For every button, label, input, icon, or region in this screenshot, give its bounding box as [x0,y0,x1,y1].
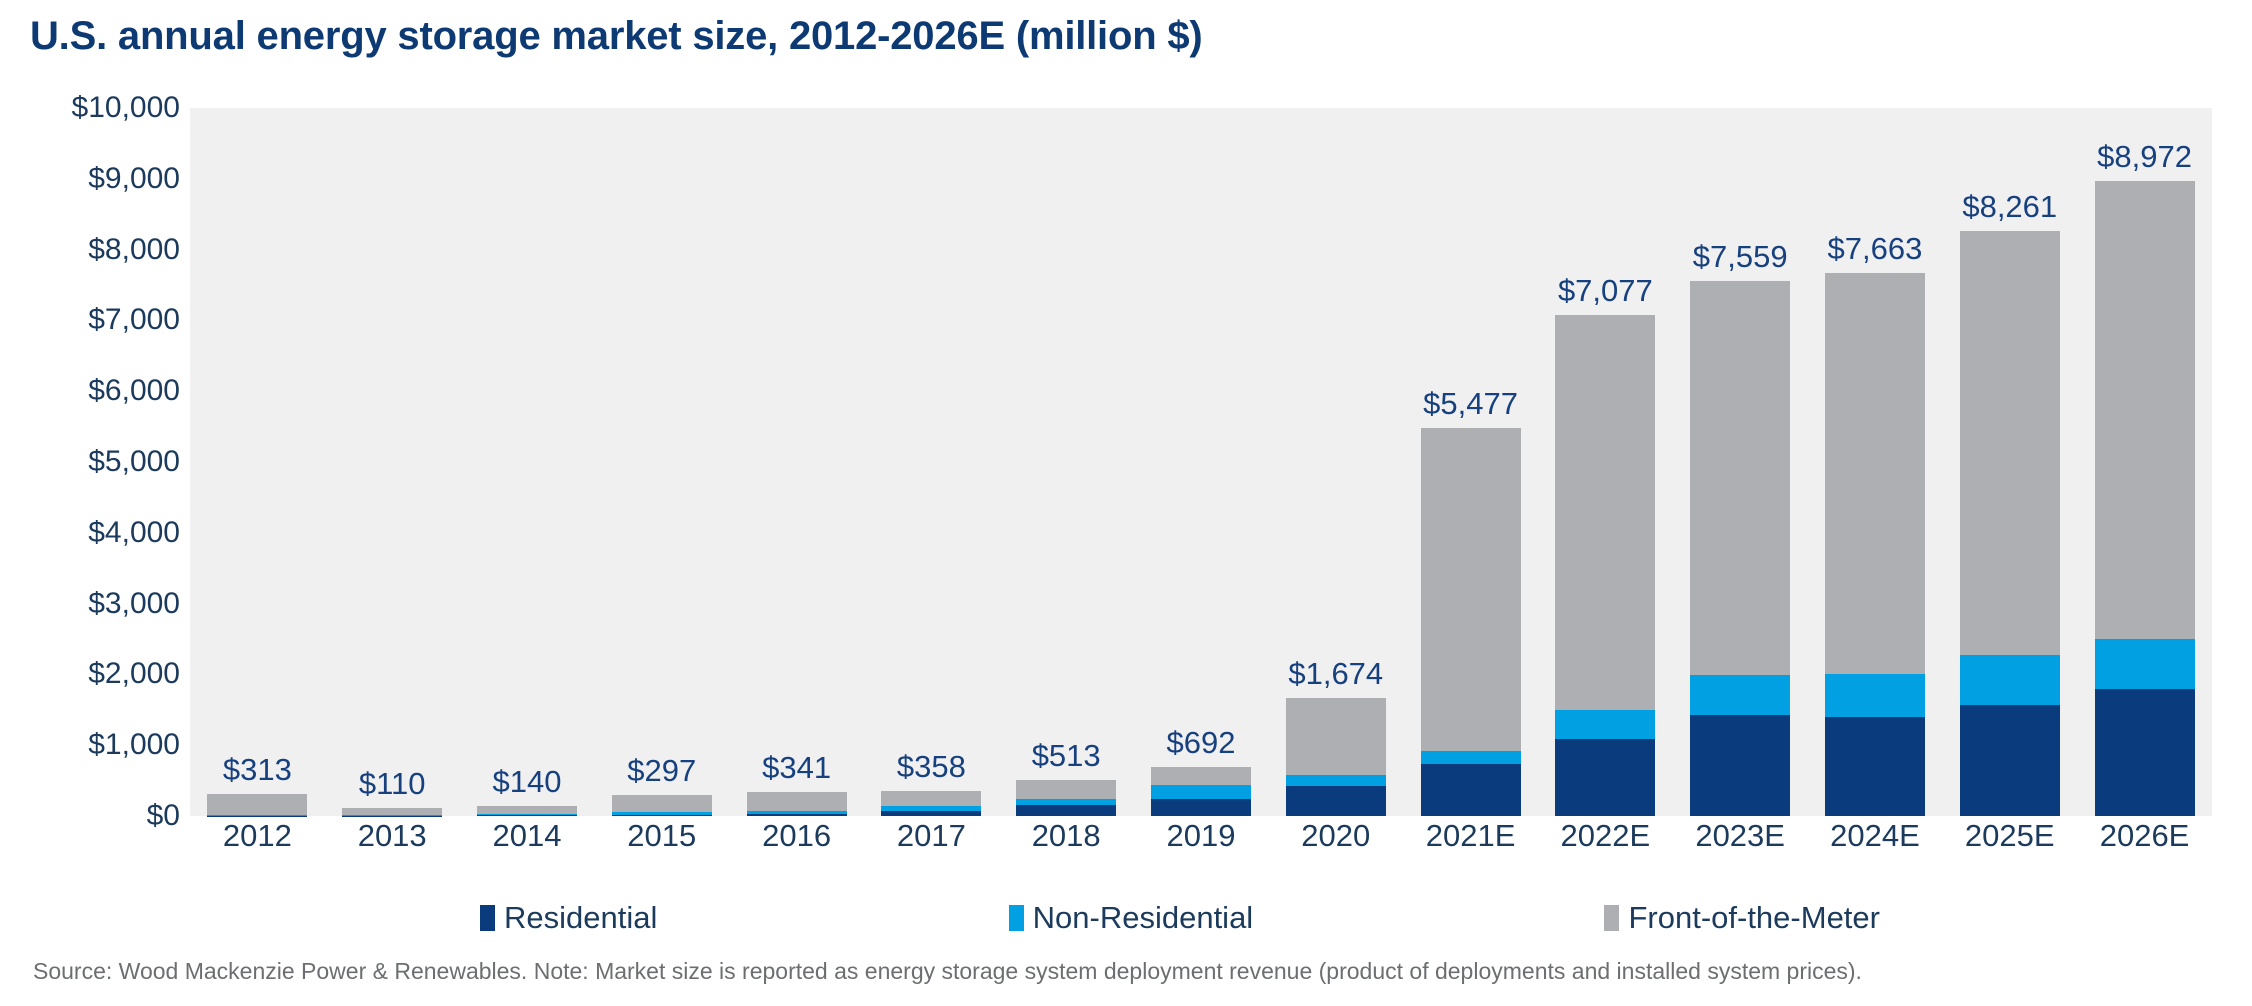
bar-segment-residential[interactable] [477,815,577,816]
x-axis-tick: 2018 [999,818,1133,854]
bar-segment-front-of-the-meter[interactable] [1690,281,1790,675]
bar-group[interactable]: $1,674 [1269,108,1403,816]
x-axis-tick: 2014 [460,818,594,854]
square-swatch-front-of-the-meter [1604,905,1619,931]
bar-total-label: $313 [223,752,292,788]
bar-total-label: $341 [762,750,831,786]
bar-segment-residential[interactable] [612,815,712,816]
bar-stack[interactable]: $5,477 [1421,428,1521,816]
x-axis-tick: 2015 [595,818,729,854]
bars-layer: $313$110$140$297$341$358$513$692$1,674$5… [190,108,2212,816]
bar-total-label: $7,559 [1693,239,1788,275]
bar-total-label: $140 [493,764,562,800]
x-axis-tick: 2020 [1269,818,1403,854]
x-axis-tick: 2017 [864,818,998,854]
bar-stack[interactable]: $7,077 [1555,315,1655,816]
bar-segment-residential[interactable] [1286,786,1386,816]
bar-segment-non-residential[interactable] [2095,639,2195,689]
y-axis-tick: $5,000 [88,445,180,479]
y-axis-tick: $6,000 [88,374,180,408]
bar-group[interactable]: $110 [325,108,459,816]
bar-stack[interactable]: $513 [1016,780,1116,816]
bar-group[interactable]: $7,559 [1673,108,1807,816]
bar-stack[interactable]: $341 [747,792,847,816]
bar-total-label: $8,972 [2097,139,2192,175]
bar-segment-non-residential[interactable] [1960,655,2060,705]
chart-legend: ResidentialNon-ResidentialFront-of-the-M… [190,896,2020,940]
bar-segment-residential[interactable] [2095,689,2195,816]
bar-segment-front-of-the-meter[interactable] [477,806,577,814]
bar-segment-front-of-the-meter[interactable] [1286,698,1386,775]
bar-total-label: $8,261 [1962,189,2057,225]
bar-stack[interactable]: $7,559 [1690,281,1790,816]
bar-group[interactable]: $8,972 [2078,108,2212,816]
bar-segment-residential[interactable] [1151,799,1251,816]
bar-total-label: $1,674 [1288,656,1383,692]
bar-segment-front-of-the-meter[interactable] [207,794,307,815]
y-axis-tick: $7,000 [88,303,180,337]
bar-segment-residential[interactable] [1825,717,1925,816]
y-axis-tick: $1,000 [88,728,180,762]
bar-group[interactable]: $358 [864,108,998,816]
x-axis-tick: 2013 [325,818,459,854]
bar-segment-non-residential[interactable] [1286,775,1386,786]
x-axis-tick: 2021E [1404,818,1538,854]
bar-group[interactable]: $8,261 [1943,108,2077,816]
y-axis-tick: $4,000 [88,516,180,550]
bar-total-label: $358 [897,749,966,785]
bar-stack[interactable]: $313 [207,794,307,816]
bar-stack[interactable]: $692 [1151,767,1251,816]
bar-segment-front-of-the-meter[interactable] [612,795,712,812]
bar-stack[interactable]: $358 [881,791,981,816]
y-axis-tick: $8,000 [88,233,180,267]
bar-segment-front-of-the-meter[interactable] [342,808,442,815]
bar-group[interactable]: $7,077 [1538,108,1672,816]
bar-total-label: $513 [1032,738,1101,774]
bar-group[interactable]: $341 [730,108,864,816]
bar-stack[interactable]: $110 [342,808,442,816]
bar-segment-front-of-the-meter[interactable] [1421,428,1521,751]
y-axis-tick: $0 [147,799,180,833]
bar-segment-front-of-the-meter[interactable] [1825,273,1925,674]
bar-group[interactable]: $513 [999,108,1133,816]
bar-stack[interactable]: $140 [477,806,577,816]
bar-segment-residential[interactable] [1690,715,1790,816]
bar-segment-non-residential[interactable] [1421,751,1521,764]
x-axis-tick: 2025E [1943,818,2077,854]
bar-stack[interactable]: $8,972 [2095,181,2195,816]
legend-item[interactable]: Residential [480,900,657,936]
bar-segment-residential[interactable] [747,814,847,816]
chart-figure: U.S. annual energy storage market size, … [0,0,2252,1006]
bar-segment-residential[interactable] [1421,764,1521,816]
legend-item[interactable]: Front-of-the-Meter [1604,900,1880,936]
bar-segment-non-residential[interactable] [1690,675,1790,715]
legend-label: Front-of-the-Meter [1628,900,1880,936]
bar-stack[interactable]: $8,261 [1960,231,2060,816]
bar-group[interactable]: $7,663 [1808,108,1942,816]
bar-total-label: $110 [359,766,426,802]
bar-segment-front-of-the-meter[interactable] [881,791,981,807]
bar-stack[interactable]: $1,674 [1286,698,1386,816]
x-axis-tick: 2022E [1538,818,1672,854]
bar-group[interactable]: $5,477 [1404,108,1538,816]
y-axis-tick: $10,000 [72,91,180,125]
square-swatch-residential [480,905,495,931]
plot-area: $313$110$140$297$341$358$513$692$1,674$5… [190,108,2212,816]
bar-segment-residential[interactable] [1555,739,1655,816]
bar-segment-front-of-the-meter[interactable] [1016,780,1116,799]
x-axis-tick: 2024E [1808,818,1942,854]
y-axis-tick: $9,000 [88,162,180,196]
x-axis-tick: 2012 [190,818,324,854]
bar-total-label: $7,663 [1828,231,1923,267]
bar-group[interactable]: $313 [190,108,324,816]
bar-stack[interactable]: $297 [612,795,712,816]
bar-group[interactable]: $692 [1134,108,1268,816]
bar-segment-non-residential[interactable] [1555,710,1655,739]
x-axis-tick: 2019 [1134,818,1268,854]
bar-total-label: $5,477 [1423,386,1518,422]
bar-group[interactable]: $297 [595,108,729,816]
bar-total-label: $297 [627,753,696,789]
bar-segment-residential[interactable] [881,811,981,816]
y-axis-tick: $2,000 [88,657,180,691]
legend-item[interactable]: Non-Residential [1009,900,1254,936]
bar-segment-front-of-the-meter[interactable] [1151,767,1251,785]
bar-segment-front-of-the-meter[interactable] [1960,231,2060,655]
x-axis-tick: 2016 [730,818,864,854]
bar-total-label: $692 [1166,725,1235,761]
x-axis: 2012201320142015201620172018201920202021… [190,818,2212,870]
square-swatch-non-residential [1009,905,1024,931]
x-axis-tick: 2023E [1673,818,1807,854]
bar-segment-residential[interactable] [1960,705,2060,816]
bar-segment-non-residential[interactable] [1825,674,1925,716]
bar-segment-non-residential[interactable] [1151,785,1251,799]
x-axis-tick: 2026E [2078,818,2212,854]
bar-group[interactable]: $140 [460,108,594,816]
y-axis-tick: $3,000 [88,587,180,621]
bar-segment-front-of-the-meter[interactable] [747,792,847,811]
legend-label: Residential [504,900,657,936]
y-axis: $0$1,000$2,000$3,000$4,000$5,000$6,000$7… [40,92,180,816]
bar-segment-front-of-the-meter[interactable] [1555,315,1655,710]
bar-segment-residential[interactable] [1016,805,1116,816]
bar-segment-front-of-the-meter[interactable] [2095,181,2195,639]
page-title: U.S. annual energy storage market size, … [30,14,1203,59]
legend-label: Non-Residential [1033,900,1254,936]
source-note: Source: Wood Mackenzie Power & Renewable… [33,958,1862,985]
bar-stack[interactable]: $7,663 [1825,273,1925,816]
bar-total-label: $7,077 [1558,273,1653,309]
